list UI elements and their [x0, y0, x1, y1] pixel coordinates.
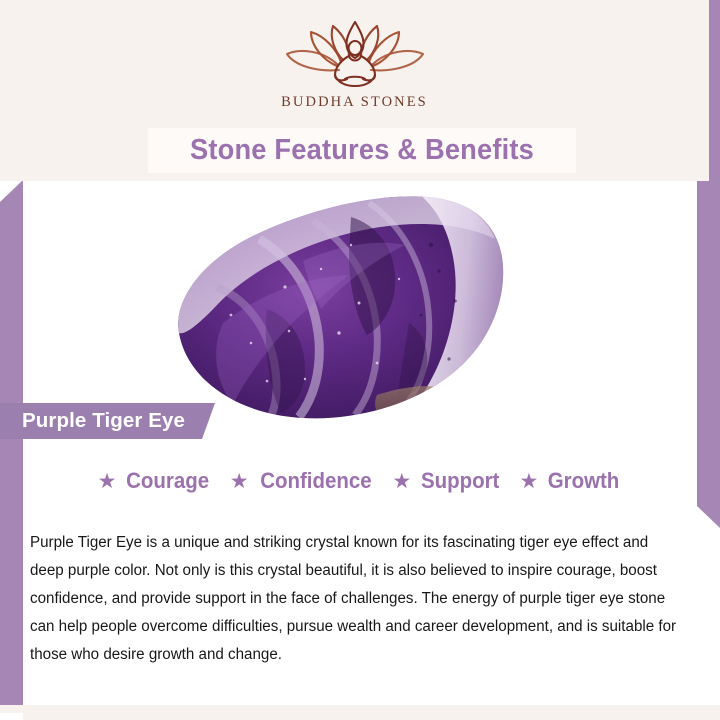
footer-strip-notch: [0, 713, 23, 720]
header-panel: BUDDHA STONES Stone Features & Benefits: [0, 0, 709, 181]
benefit-label: Courage: [127, 468, 210, 494]
product-name-badge: Purple Tiger Eye: [0, 403, 215, 439]
benefit-item-support: ★ Support: [392, 468, 502, 494]
title-banner: Stone Features & Benefits: [148, 128, 576, 173]
brand-name: BUDDHA STONES: [0, 94, 709, 111]
benefit-item-courage: ★ Courage: [98, 468, 213, 494]
star-icon: ★: [520, 471, 539, 492]
star-icon: ★: [230, 471, 249, 492]
benefit-label: Confidence: [260, 468, 371, 494]
lotus-meditation-icon: [279, 18, 431, 90]
stone-features-infographic: BUDDHA STONES Stone Features & Benefits: [0, 0, 720, 720]
purple-tiger-eye-stone-image: [163, 183, 563, 431]
body-panel: ★ Courage ★ Confidence ★ Support ★ Growt…: [23, 446, 697, 674]
benefit-label: Support: [421, 468, 499, 494]
product-description: Purple Tiger Eye is a unique and strikin…: [30, 529, 680, 669]
page-title: Stone Features & Benefits: [190, 134, 534, 167]
star-icon: ★: [98, 471, 117, 492]
benefit-label: Growth: [548, 468, 620, 494]
benefit-item-growth: ★ Growth: [520, 468, 623, 494]
decorative-bar-left: [0, 180, 23, 713]
brand-logo: BUDDHA STONES: [0, 18, 709, 111]
benefits-list: ★ Courage ★ Confidence ★ Support ★ Growt…: [23, 468, 697, 494]
footer-strip: [0, 705, 720, 720]
star-icon: ★: [392, 471, 411, 492]
benefit-item-confidence: ★ Confidence: [230, 468, 376, 494]
product-name-label: Purple Tiger Eye: [22, 409, 185, 433]
